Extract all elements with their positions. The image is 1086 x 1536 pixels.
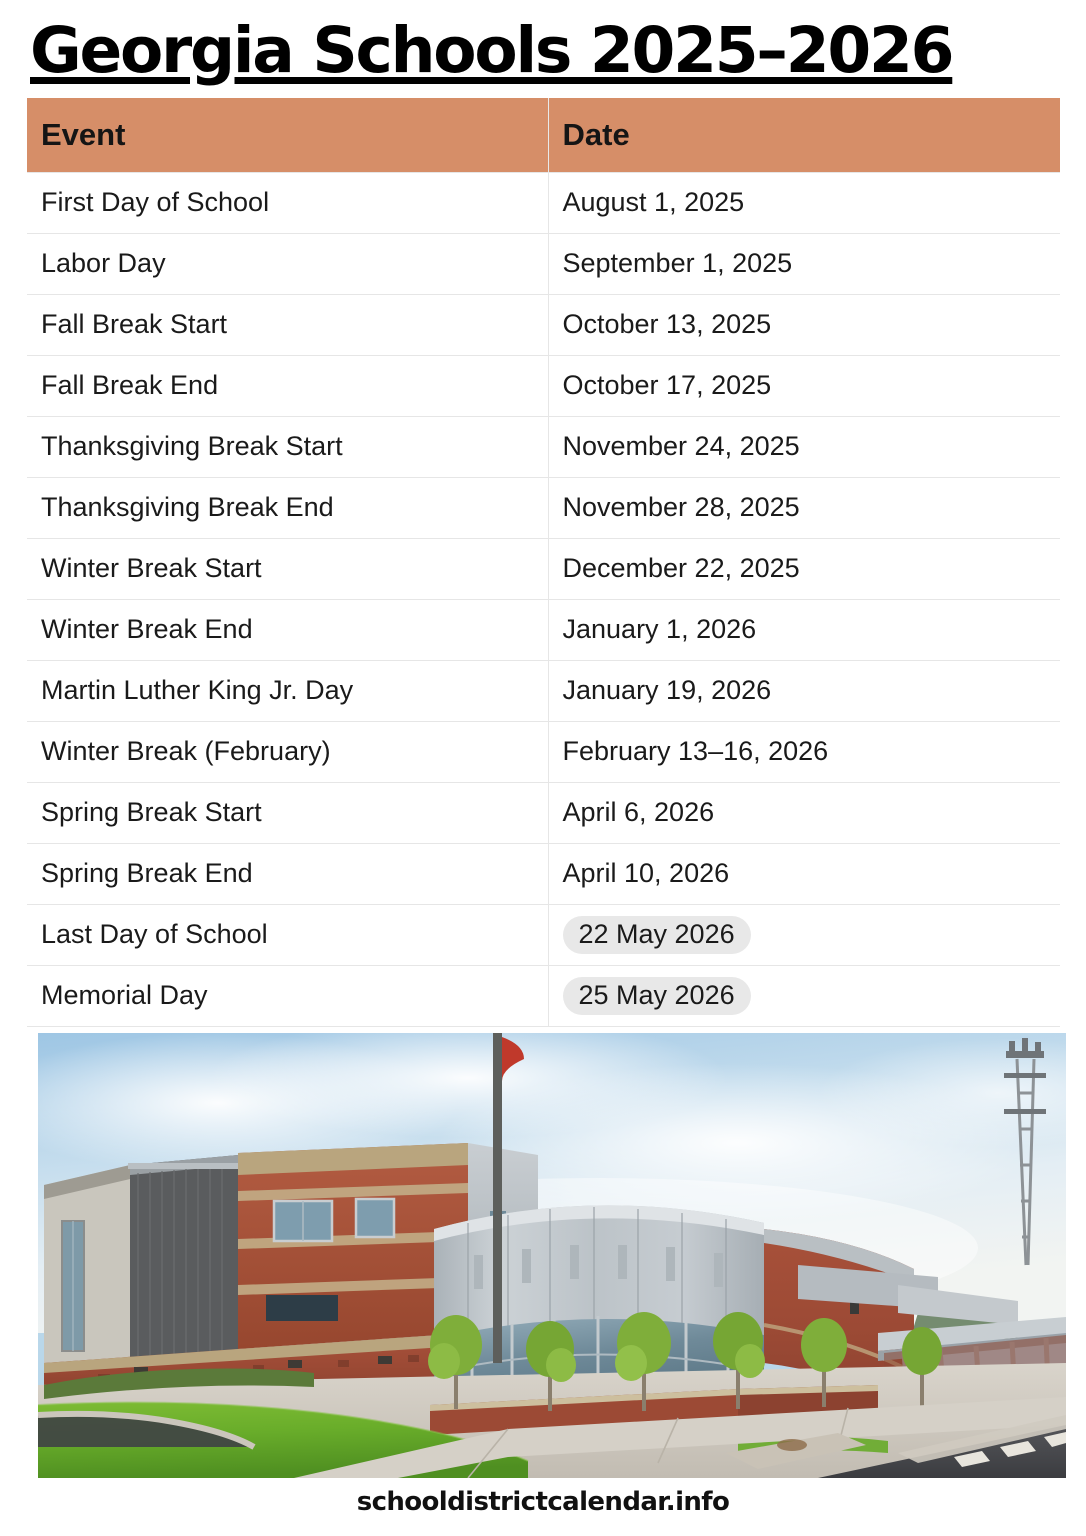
date-cell: February 13–16, 2026 (548, 721, 1060, 782)
column-header-event: Event (27, 98, 548, 172)
event-cell: Winter Break (February) (27, 721, 548, 782)
table-row: First Day of SchoolAugust 1, 2025 (27, 172, 1060, 233)
event-cell: Martin Luther King Jr. Day (27, 660, 548, 721)
event-cell: Winter Break Start (27, 538, 548, 599)
column-header-date: Date (548, 98, 1060, 172)
event-cell: Spring Break End (27, 843, 548, 904)
event-cell: First Day of School (27, 172, 548, 233)
date-cell: September 1, 2025 (548, 233, 1060, 294)
table-body: First Day of SchoolAugust 1, 2025Labor D… (27, 172, 1060, 1026)
table-row: Winter Break StartDecember 22, 2025 (27, 538, 1060, 599)
event-cell: Fall Break Start (27, 294, 548, 355)
date-cell: November 24, 2025 (548, 416, 1060, 477)
table-row: Martin Luther King Jr. DayJanuary 19, 20… (27, 660, 1060, 721)
event-cell: Labor Day (27, 233, 548, 294)
date-cell: 25 May 2026 (548, 965, 1060, 1026)
event-cell: Fall Break End (27, 355, 548, 416)
school-photo-illustration (38, 1033, 1066, 1478)
table-row: Fall Break StartOctober 13, 2025 (27, 294, 1060, 355)
date-cell: August 1, 2025 (548, 172, 1060, 233)
event-cell: Thanksgiving Break End (27, 477, 548, 538)
footer-website: schooldistrictcalendar.info (0, 1487, 1086, 1517)
date-cell: October 17, 2025 (548, 355, 1060, 416)
page-title: Georgia Schools 2025–2026 (30, 12, 1070, 90)
table-row: Thanksgiving Break StartNovember 24, 202… (27, 416, 1060, 477)
school-building-photo (38, 1033, 1066, 1478)
event-cell: Memorial Day (27, 965, 548, 1026)
table-row: Fall Break EndOctober 17, 2025 (27, 355, 1060, 416)
date-badge: 25 May 2026 (563, 977, 751, 1015)
date-cell: November 28, 2025 (548, 477, 1060, 538)
date-cell: December 22, 2025 (548, 538, 1060, 599)
table-header: Event Date (27, 98, 1060, 172)
table-row: Labor DaySeptember 1, 2025 (27, 233, 1060, 294)
calendar-table: Event Date First Day of SchoolAugust 1, … (27, 98, 1060, 1027)
event-cell: Thanksgiving Break Start (27, 416, 548, 477)
table-row: Winter Break (February)February 13–16, 2… (27, 721, 1060, 782)
calendar-poster: Georgia Schools 2025–2026 Event Date Fir… (0, 0, 1086, 1536)
event-cell: Spring Break Start (27, 782, 548, 843)
date-cell: January 1, 2026 (548, 599, 1060, 660)
date-cell: April 10, 2026 (548, 843, 1060, 904)
table-header-row: Event Date (27, 98, 1060, 172)
table-row: Thanksgiving Break EndNovember 28, 2025 (27, 477, 1060, 538)
date-cell: 22 May 2026 (548, 904, 1060, 965)
table-row: Last Day of School22 May 2026 (27, 904, 1060, 965)
event-cell: Last Day of School (27, 904, 548, 965)
date-badge: 22 May 2026 (563, 916, 751, 954)
table-row: Spring Break StartApril 6, 2026 (27, 782, 1060, 843)
date-cell: April 6, 2026 (548, 782, 1060, 843)
event-cell: Winter Break End (27, 599, 548, 660)
table-row: Spring Break EndApril 10, 2026 (27, 843, 1060, 904)
table-row: Winter Break EndJanuary 1, 2026 (27, 599, 1060, 660)
table-row: Memorial Day25 May 2026 (27, 965, 1060, 1026)
date-cell: January 19, 2026 (548, 660, 1060, 721)
date-cell: October 13, 2025 (548, 294, 1060, 355)
